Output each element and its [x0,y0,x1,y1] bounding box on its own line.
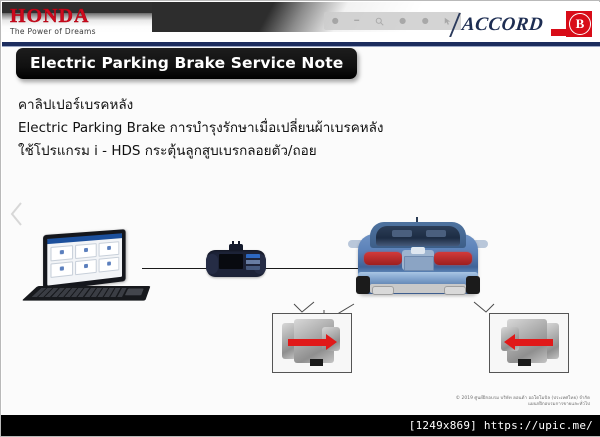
slide-canvas: HONDA The Power of Dreams ● ━ ● ● ACCORD… [2,2,600,417]
caliper-illustration [282,319,342,367]
copyright-block: © 2019 ศูนย์ฝึกอบรม บริษัท ฮอนด้า ออโตโม… [456,396,590,409]
magnifier-icon[interactable] [375,17,384,26]
page-title: Electric Parking Brake Service Note [16,48,357,79]
copyright-line-2: แผนกฝึกอบรมการขายและทั่วไป [456,402,590,409]
accord-b-badge: B [569,13,591,35]
body-line-3: ใช้โปรแกรม i - HDS กระตุ้นลูกสูบเบรกลอยต… [18,140,478,163]
honda-tagline: The Power of Dreams [10,27,140,36]
dot-icon[interactable]: ● [332,17,339,25]
rear-brake-caliper-extend [489,313,569,373]
retract-arrow-head [326,334,337,350]
body-line-1: คาลิปเปอร์เบรคหลัง [18,94,478,117]
caliper-illustration [499,319,559,367]
honda-logo: HONDA The Power of Dreams [10,6,140,36]
dot-icon[interactable]: ● [422,17,429,25]
minus-icon[interactable]: ━ [354,17,359,25]
rear-brake-caliper-retract [272,313,352,373]
body-line-2: Electric Parking Brake การบำรุงรักษาเมื่… [18,117,478,140]
diagram-stage [2,182,600,382]
screenshot-frame: HONDA The Power of Dreams ● ━ ● ● ACCORD… [0,0,600,437]
floating-toolbar[interactable]: ● ━ ● ● [324,12,461,30]
extend-arrow-head [504,334,515,350]
body-text-block: คาลิปเปอร์เบรคหลัง Electric Parking Brak… [18,94,478,163]
accord-logo: ACCORD B [454,11,594,41]
accord-wordmark: ACCORD [461,14,544,36]
retract-arrow-shaft [288,339,326,346]
header-divider-light [2,46,600,47]
previous-slide-icon[interactable] [9,200,25,228]
cursor-icon[interactable] [444,17,453,26]
honda-wordmark: HONDA [10,6,140,26]
dot-icon[interactable]: ● [399,17,406,25]
extend-arrow-shaft [515,339,553,346]
watermark-bar: [1249x869] https://upic.me/ [1,415,600,436]
watermark-text: [1249x869] https://upic.me/ [409,419,593,432]
caliper-connector [518,359,531,366]
caliper-connector [310,359,323,366]
